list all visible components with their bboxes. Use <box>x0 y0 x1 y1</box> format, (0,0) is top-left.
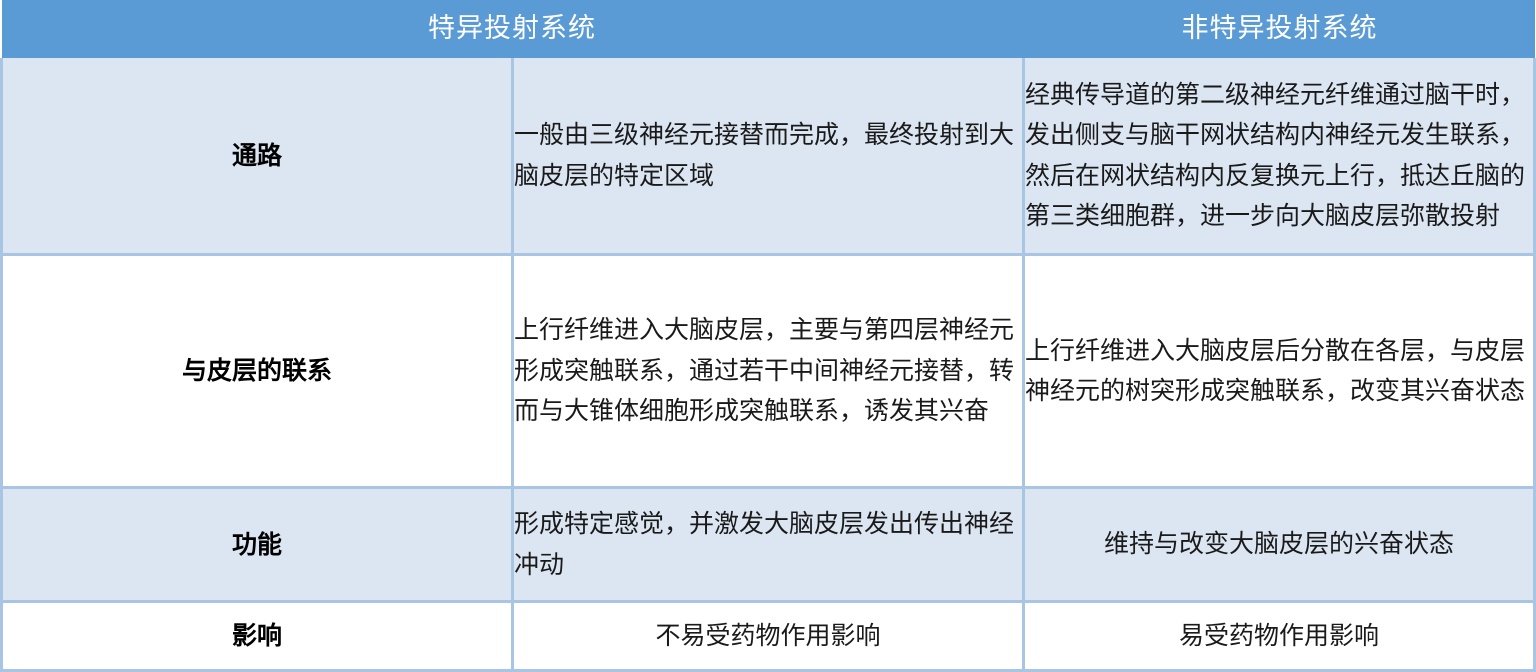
cell-nonspecific-influence: 易受药物作用影响 <box>1024 602 1535 671</box>
table-header: 特异投射系统 非特异投射系统 <box>2 0 1535 58</box>
header-nonspecific-projection-system: 非特异投射系统 <box>1024 0 1535 58</box>
row-label-pathway: 通路 <box>2 58 513 255</box>
header-specific-projection-system: 特异投射系统 <box>2 0 1024 58</box>
table-row-pathway: 通路 一般由三级神经元接替而完成，最终投射到大脑皮层的特定区域 经典传导道的第二… <box>2 58 1535 255</box>
row-label-cortex-connection: 与皮层的联系 <box>2 255 513 488</box>
cell-nonspecific-pathway: 经典传导道的第二级神经元纤维通过脑干时，发出侧支与脑干网状结构内神经元发生联系，… <box>1024 58 1535 255</box>
cell-specific-function: 形成特定感觉，并激发大脑皮层发出传出神经冲动 <box>513 488 1024 602</box>
table-row-cortex-connection: 与皮层的联系 上行纤维进入大脑皮层，主要与第四层神经元形成突触联系，通过若干中间… <box>2 255 1535 488</box>
table-body: 通路 一般由三级神经元接替而完成，最终投射到大脑皮层的特定区域 经典传导道的第二… <box>2 58 1535 671</box>
row-label-influence: 影响 <box>2 602 513 671</box>
cell-specific-influence: 不易受药物作用影响 <box>513 602 1024 671</box>
cell-specific-cortex-connection: 上行纤维进入大脑皮层，主要与第四层神经元形成突触联系，通过若干中间神经元接替，转… <box>513 255 1024 488</box>
cell-nonspecific-cortex-connection: 上行纤维进入大脑皮层后分散在各层，与皮层神经元的树突形成突触联系，改变其兴奋状态 <box>1024 255 1535 488</box>
specific-vs-nonspecific-projection-table: 特异投射系统 非特异投射系统 通路 一般由三级神经元接替而完成，最终投射到大脑皮… <box>0 0 1536 672</box>
table-row-function: 功能 形成特定感觉，并激发大脑皮层发出传出神经冲动 维持与改变大脑皮层的兴奋状态 <box>2 488 1535 602</box>
row-label-function: 功能 <box>2 488 513 602</box>
cell-nonspecific-function: 维持与改变大脑皮层的兴奋状态 <box>1024 488 1535 602</box>
cell-specific-pathway: 一般由三级神经元接替而完成，最终投射到大脑皮层的特定区域 <box>513 58 1024 255</box>
header-row: 特异投射系统 非特异投射系统 <box>2 0 1535 58</box>
table-row-influence: 影响 不易受药物作用影响 易受药物作用影响 <box>2 602 1535 671</box>
